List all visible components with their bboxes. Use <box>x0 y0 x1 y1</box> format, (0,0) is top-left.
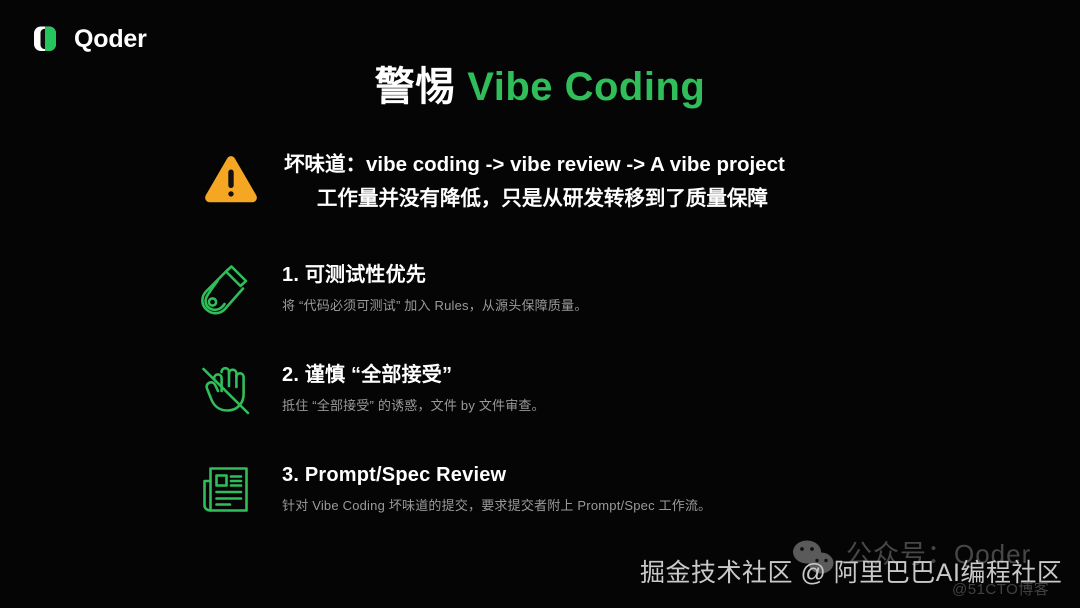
page-title: 警惕 Vibe Coding <box>0 64 1080 110</box>
list-item-body: 3. Prompt/Spec Review 针对 Vibe Coding 坏味道… <box>282 456 711 515</box>
list-item-desc: 抵住 “全部接受” 的诱惑，文件 by 文件审查。 <box>282 397 545 415</box>
warning-callout: 坏味道：vibe coding -> vibe review -> A vibe… <box>200 148 785 213</box>
list-item-desc: 将 “代码必须可测试” 加入 Rules，从源头保障质量。 <box>282 297 588 315</box>
page-title-en: Vibe Coding <box>467 65 705 109</box>
warning-triangle-icon <box>200 150 262 212</box>
list-item-title: 3. Prompt/Spec Review <box>282 462 711 488</box>
brand-name: Qoder <box>74 27 147 52</box>
brand-logo: Qoder <box>28 22 147 56</box>
list-item-title: 1. 可测试性优先 <box>282 262 588 288</box>
list-item-body: 2. 谨慎 “全部接受” 抵住 “全部接受” 的诱惑，文件 by 文件审查。 <box>282 356 545 415</box>
list-item-body: 1. 可测试性优先 将 “代码必须可测试” 加入 Rules，从源头保障质量。 <box>282 256 588 315</box>
hand-stop-icon <box>196 358 256 420</box>
document-review-icon <box>196 458 256 520</box>
warning-line-2: 工作量并没有降低，只是从研发转移到了质量保障 <box>284 184 785 214</box>
warning-text: 坏味道：vibe coding -> vibe review -> A vibe… <box>284 148 785 213</box>
list-item: 2. 谨慎 “全部接受” 抵住 “全部接受” 的诱惑，文件 by 文件审查。 <box>196 356 1020 456</box>
points-list: 1. 可测试性优先 将 “代码必须可测试” 加入 Rules，从源头保障质量。 <box>196 256 1020 556</box>
slide-root: Qoder 警惕 Vibe Coding 坏味道：vibe coding -> … <box>0 0 1080 608</box>
list-item: 1. 可测试性优先 将 “代码必须可测试” 加入 Rules，从源头保障质量。 <box>196 256 1020 356</box>
list-item-desc: 针对 Vibe Coding 坏味道的提交，要求提交者附上 Prompt/Spe… <box>282 497 711 515</box>
watermark-51cto: @51CTO博客 <box>952 578 1049 599</box>
qoder-logo-icon <box>28 22 62 56</box>
warning-line-1: 坏味道：vibe coding -> vibe review -> A vibe… <box>284 150 785 180</box>
list-item-title: 2. 谨慎 “全部接受” <box>282 362 545 388</box>
test-tube-icon <box>196 258 256 320</box>
page-title-cn: 警惕 <box>375 65 468 109</box>
